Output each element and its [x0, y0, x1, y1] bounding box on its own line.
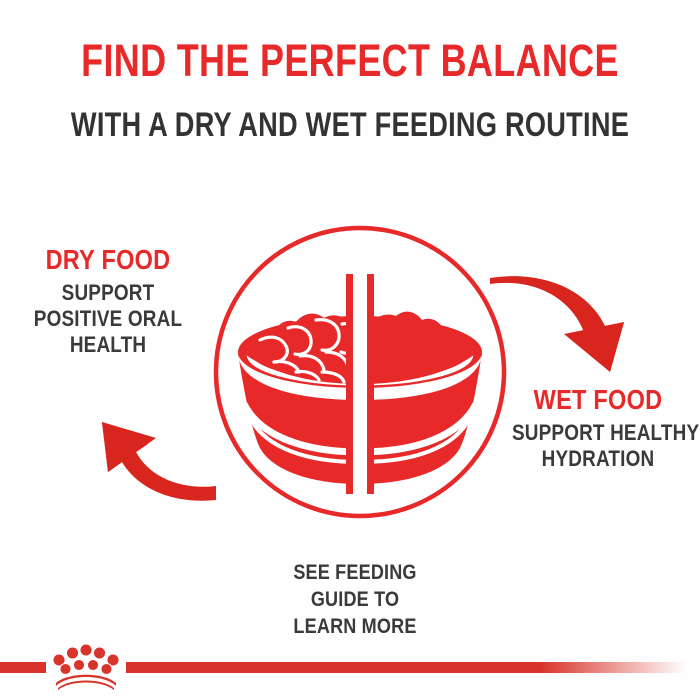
footer-rule-right	[126, 662, 686, 673]
wet-food-mound	[360, 312, 478, 384]
callout-dry-line-2: POSITIVE ORAL	[22, 306, 194, 332]
brand-footer	[0, 632, 700, 700]
curved-arrow-up-left-icon	[78, 368, 218, 508]
callout-dry-body: SUPPORT POSITIVE ORAL HEALTH	[22, 280, 194, 357]
callout-wet-line-1: SUPPORT HEALTHY	[512, 420, 684, 446]
split-pet-food-bowl-illustration	[200, 212, 520, 532]
callout-wet-title: WET FOOD	[514, 384, 682, 416]
royal-canin-crown-icon	[46, 638, 126, 694]
callout-wet-line-2: HYDRATION	[512, 446, 684, 472]
vertical-split-line	[346, 274, 374, 494]
feeding-guide-line-2: GUIDE TO	[265, 587, 446, 614]
page-subtitle: WITH A DRY AND WET FEEDING ROUTINE	[70, 108, 630, 142]
dry-kibble-group	[242, 314, 362, 384]
callout-wet-food: WET FOOD SUPPORT HEALTHY HYDRATION	[498, 384, 698, 472]
poster-root: FIND THE PERFECT BALANCE WITH A DRY AND …	[0, 0, 700, 700]
page-title: FIND THE PERFECT BALANCE	[70, 38, 630, 83]
feeding-guide-line-1: SEE FEEDING	[265, 560, 446, 587]
footer-rule-left	[0, 662, 46, 673]
callout-dry-title: DRY FOOD	[24, 244, 192, 276]
callout-dry-line-1: SUPPORT	[22, 280, 194, 306]
callout-wet-body: SUPPORT HEALTHY HYDRATION	[512, 420, 684, 471]
feeding-guide-note: SEE FEEDING GUIDE TO LEARN MORE	[265, 560, 446, 641]
callout-dry-line-3: HEALTH	[22, 332, 194, 358]
callout-dry-food: DRY FOOD SUPPORT POSITIVE ORAL HEALTH	[8, 244, 208, 357]
